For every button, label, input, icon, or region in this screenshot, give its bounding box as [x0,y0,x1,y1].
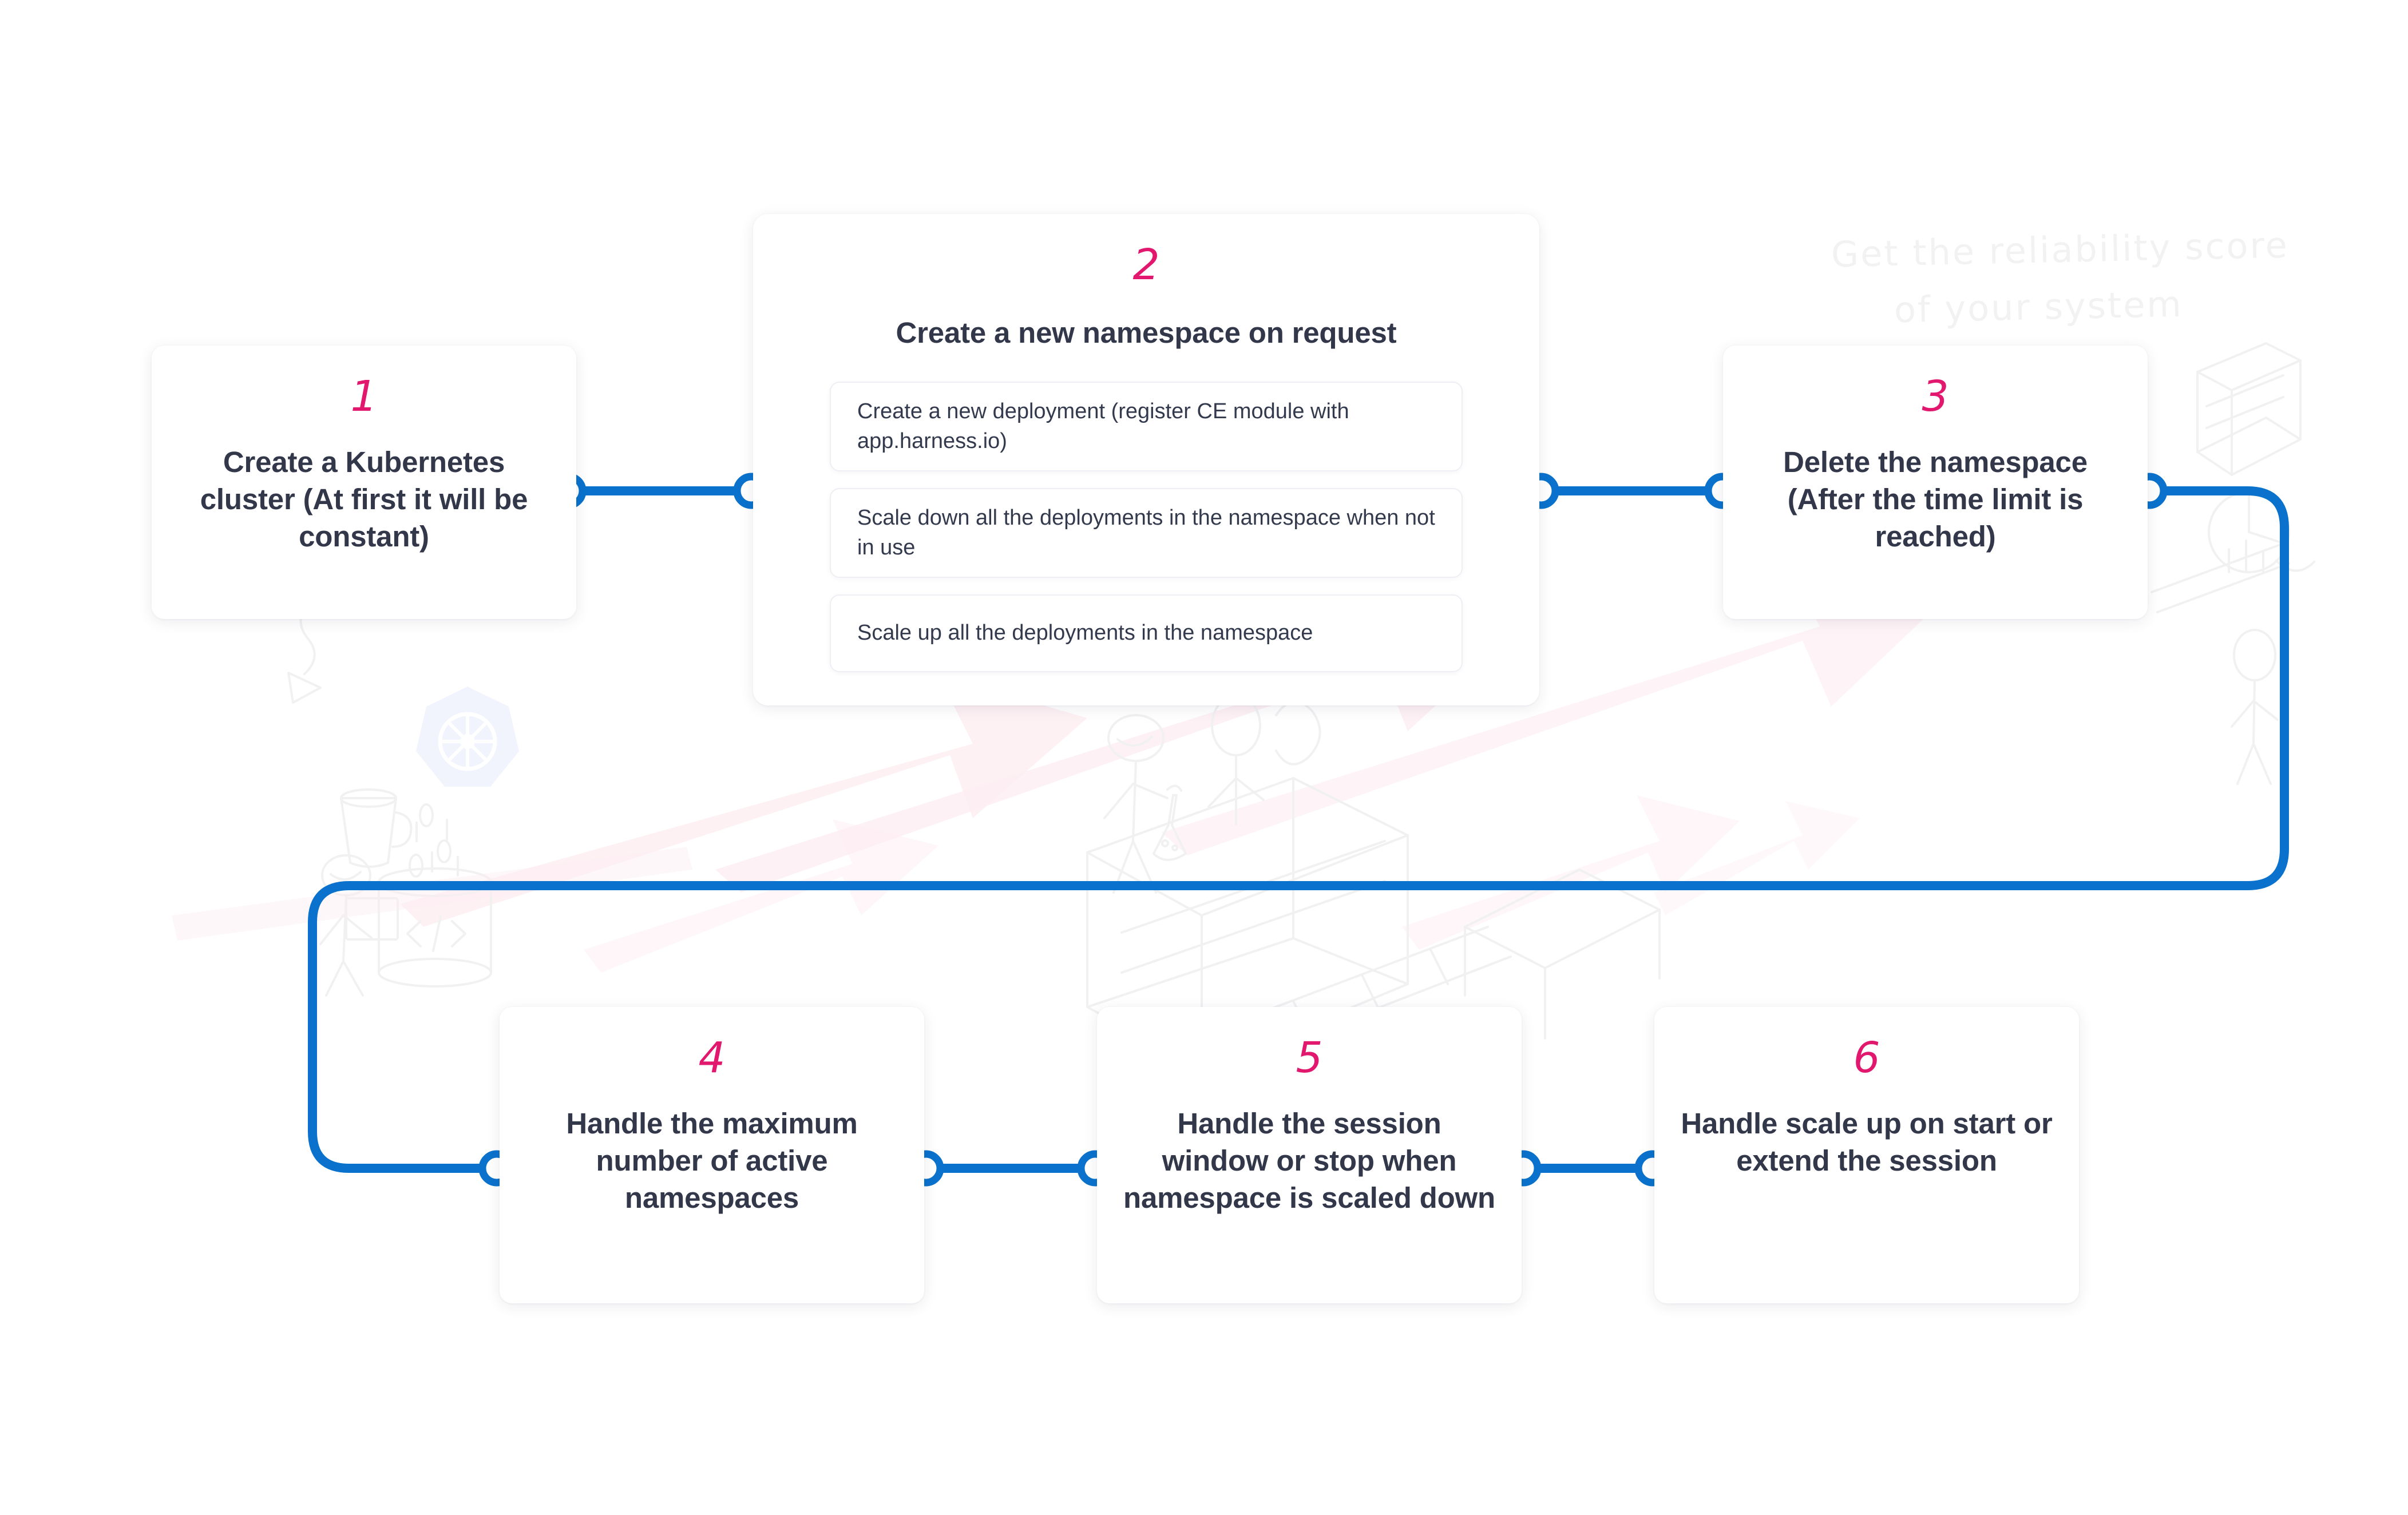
mug-doodle [341,790,411,867]
step-title-1: Create a Kubernetes cluster (At first it… [178,444,550,555]
step-number-1: 1 [350,375,377,418]
step-2-subitem[interactable]: Scale down all the deployments in the na… [830,488,1463,578]
flow-node-step-5[interactable]: 5 Handle the session window or stop when… [1097,1007,1522,1303]
step-title-5: Handle the session window or stop when n… [1123,1105,1495,1216]
watermark-line-2: of your system [1894,283,2183,331]
step-title-4: Handle the maximum number of active name… [526,1105,898,1216]
step-number-6: 6 [1853,1037,1880,1079]
step-number-5: 5 [1296,1037,1322,1079]
scientist-beaker-doodle [1104,715,1186,893]
step-2-subitem[interactable]: Create a new deployment (register CE mod… [830,382,1463,471]
watermark-line-1: Get the reliability score [1831,224,2289,276]
step-2-subitem-label: Scale down all the deployments in the na… [857,503,1435,563]
step-2-subitem[interactable]: Scale up all the deployments in the name… [830,594,1463,672]
stick-figure-doodle-left [320,855,398,996]
flow-node-step-1[interactable]: 1 Create a Kubernetes cluster (At first … [152,346,576,619]
flow-node-step-6[interactable]: 6 Handle scale up on start or extend the… [1654,1007,2079,1303]
step-2-subitem-label: Create a new deployment (register CE mod… [857,396,1435,457]
presenter-doodle [1209,696,1320,824]
step-title-3: Delete the namespace (After the time lim… [1749,444,2121,555]
road-band-doodle [172,847,692,941]
step-title-2: Create a new namespace on request [896,315,1397,352]
binary-digits-doodle [410,804,458,877]
step-number-2: 2 [1132,244,1159,286]
flow-node-step-2[interactable]: 2 Create a new namespace on request Crea… [753,214,1539,705]
step-2-subitem-label: Scale up all the deployments in the name… [857,618,1313,648]
step-number-4: 4 [698,1037,725,1079]
code-cylinder-doodle [379,868,491,986]
kubernetes-logo-watermark [416,687,519,787]
analytics-doodle-right [2152,343,2314,784]
flow-node-step-4[interactable]: 4 Handle the maximum number of active na… [500,1007,924,1303]
flow-node-step-3[interactable]: 3 Delete the namespace (After the time l… [1723,346,2148,619]
step-2-subitem-list: Create a new deployment (register CE mod… [830,382,1463,672]
flowchart-canvas: .dood { fill:none; stroke:#f1f1f2; strok… [0,0,2408,1515]
step-title-6: Handle scale up on start or extend the s… [1681,1105,2053,1180]
step-number-3: 3 [1922,375,1948,418]
